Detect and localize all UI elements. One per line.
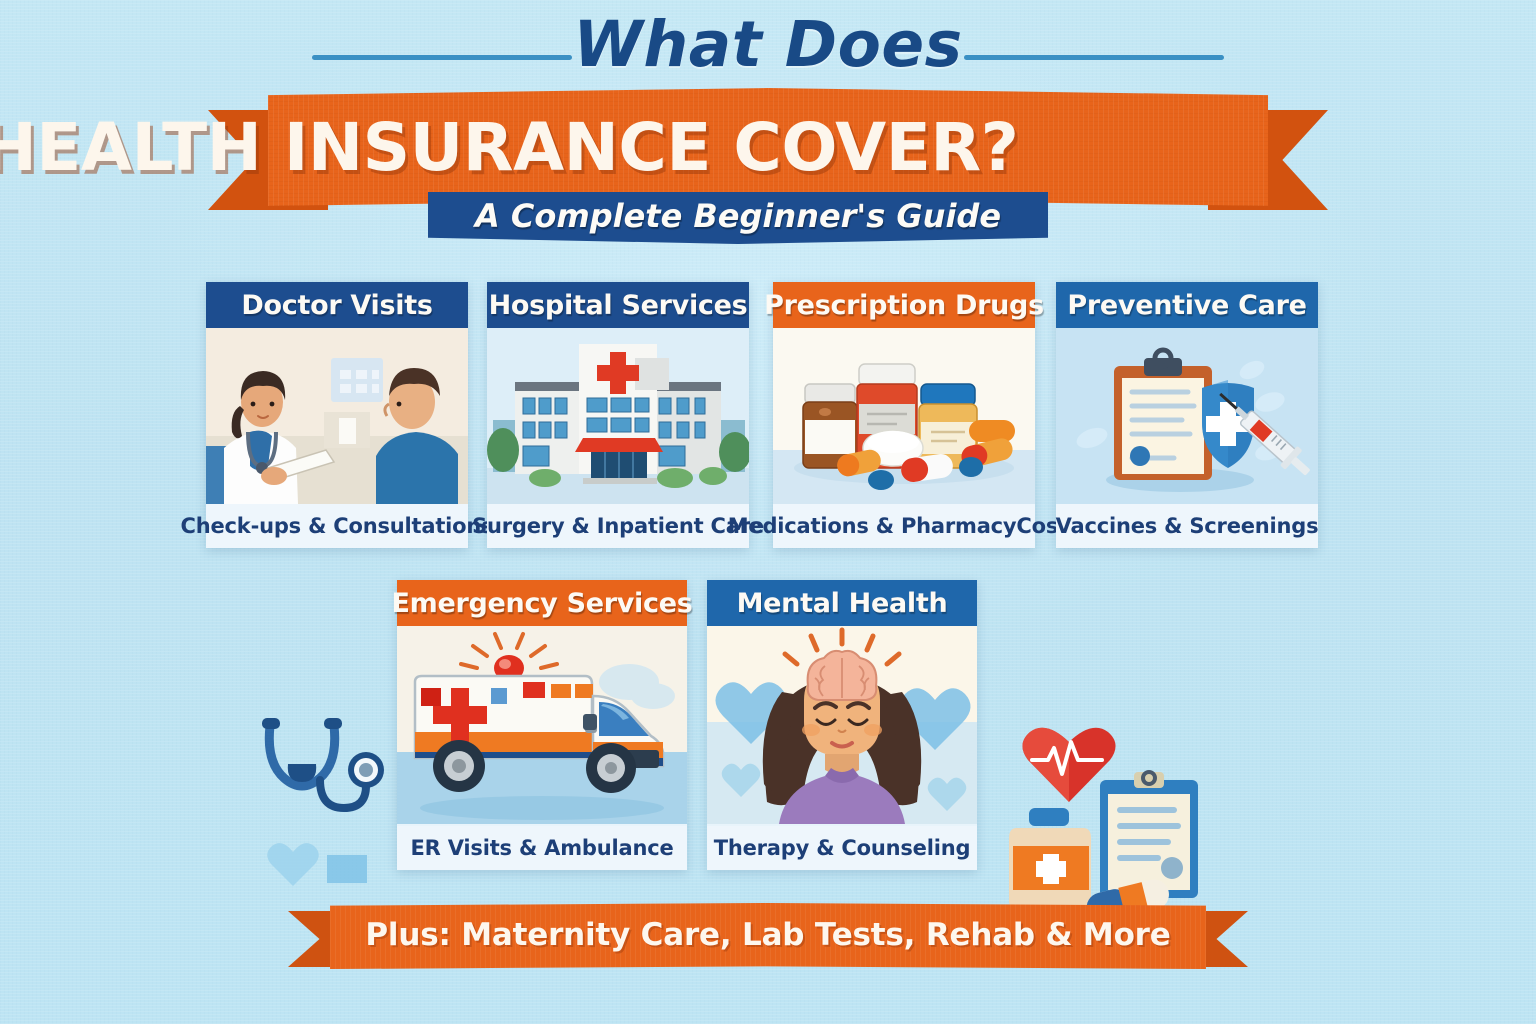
header-eyebrow: What Does	[0, 8, 1536, 81]
footer-banner: Plus: Maternity Care, Lab Tests, Rehab &…	[0, 903, 1536, 975]
header: What Does HEALTH INSURANCE COVER? A Comp…	[0, 0, 1536, 260]
card-title: Mental Health	[707, 580, 977, 626]
ambulance-illustration	[397, 626, 687, 824]
card-preventive-care[interactable]: Preventive Care	[1056, 282, 1318, 548]
page-subtitle: A Complete Beginner's Guide	[428, 192, 1048, 240]
card-title: Prescription Drugs	[773, 282, 1035, 328]
card-title: Hospital Services	[487, 282, 749, 328]
card-hospital-services[interactable]: Hospital Services	[487, 282, 749, 548]
infographic-canvas: What Does HEALTH INSURANCE COVER? A Comp…	[0, 0, 1536, 1024]
card-title: Doctor Visits	[206, 282, 468, 328]
stethoscope-icon	[248, 712, 408, 832]
heart-shape-icon	[266, 840, 320, 888]
card-caption: Therapy & Counseling	[707, 826, 977, 870]
hospital-building-illustration	[487, 328, 749, 504]
doctor-patient-consultation-illustration	[206, 328, 468, 504]
card-caption: Check-ups & Consultations	[206, 504, 468, 548]
card-doctor-visits[interactable]: Doctor Visits	[206, 282, 468, 548]
card-caption: Vaccines & Screenings	[1056, 504, 1318, 548]
clipboard-shield-syringe-illustration	[1056, 328, 1318, 504]
pill-bottles-and-capsules-illustration	[773, 328, 1035, 504]
card-title: Emergency Services	[397, 580, 687, 626]
card-mental-health[interactable]: Mental Health	[707, 580, 977, 870]
footer-text: Plus: Maternity Care, Lab Tests, Rehab &…	[330, 903, 1206, 967]
page-title: HEALTH INSURANCE COVER?	[0, 88, 1000, 206]
card-title: Preventive Care	[1056, 282, 1318, 328]
card-caption: Medications & PharmacyCosts	[773, 504, 1035, 548]
card-caption: Surgery & Inpatient Care	[487, 504, 749, 548]
square-shape-icon	[327, 855, 367, 883]
card-caption: ER Visits & Ambulance	[397, 826, 687, 870]
card-emergency-services[interactable]: Emergency Services	[397, 580, 687, 870]
woman-with-brain-illustration	[707, 626, 977, 824]
card-prescription-drugs[interactable]: Prescription Drugs	[773, 282, 1035, 548]
